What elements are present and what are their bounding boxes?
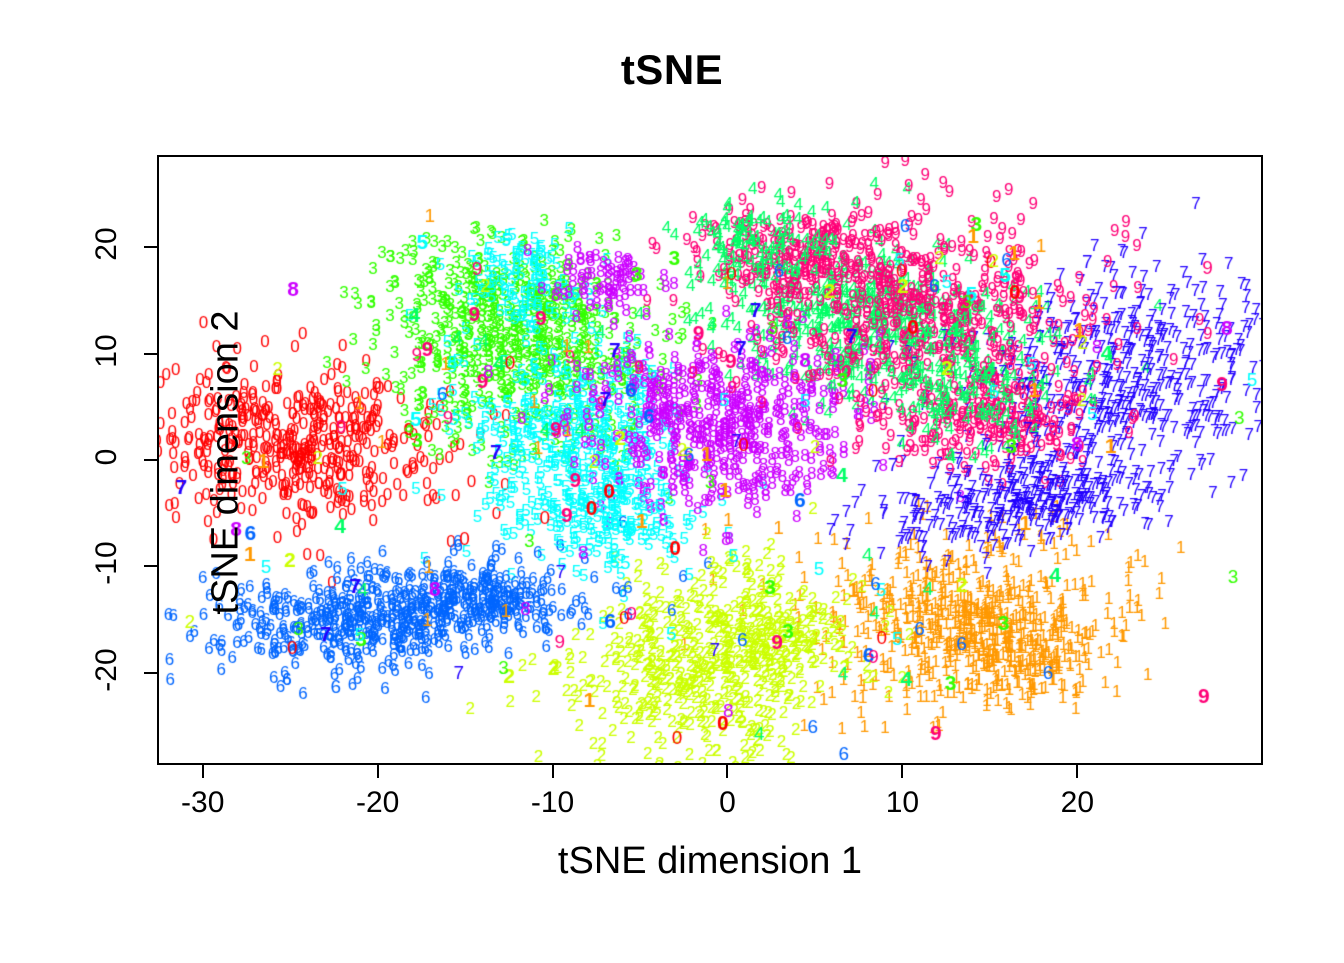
x-tick-label: 0 <box>687 786 767 820</box>
scatter-canvas <box>159 157 1261 763</box>
plot-area <box>157 155 1263 765</box>
y-tick-label: 0 <box>90 428 124 486</box>
x-tick-label: 10 <box>862 786 942 820</box>
y-tick-mark <box>144 672 157 674</box>
y-axis-title: tSNE dimension 2 <box>205 0 248 963</box>
x-tick-mark <box>901 765 903 778</box>
page-title: tSNE <box>0 46 1344 94</box>
y-tick-mark <box>144 246 157 248</box>
y-tick-mark <box>144 459 157 461</box>
y-tick-label: -20 <box>90 641 124 699</box>
y-tick-mark <box>144 565 157 567</box>
x-axis-title: tSNE dimension 1 <box>157 840 1263 883</box>
x-tick-mark <box>1076 765 1078 778</box>
y-tick-label: 20 <box>90 215 124 273</box>
y-tick-mark <box>144 353 157 355</box>
x-tick-mark <box>552 765 554 778</box>
y-tick-label: -10 <box>90 534 124 592</box>
x-tick-mark <box>377 765 379 778</box>
tsne-plot-page: tSNE -30-20-1001020 -20-1001020 tSNE dim… <box>0 0 1344 960</box>
x-tick-label: -10 <box>513 786 593 820</box>
x-tick-mark <box>726 765 728 778</box>
x-tick-label: -20 <box>338 786 418 820</box>
x-tick-mark <box>202 765 204 778</box>
x-tick-label: 20 <box>1037 786 1117 820</box>
y-tick-label: 10 <box>90 322 124 380</box>
